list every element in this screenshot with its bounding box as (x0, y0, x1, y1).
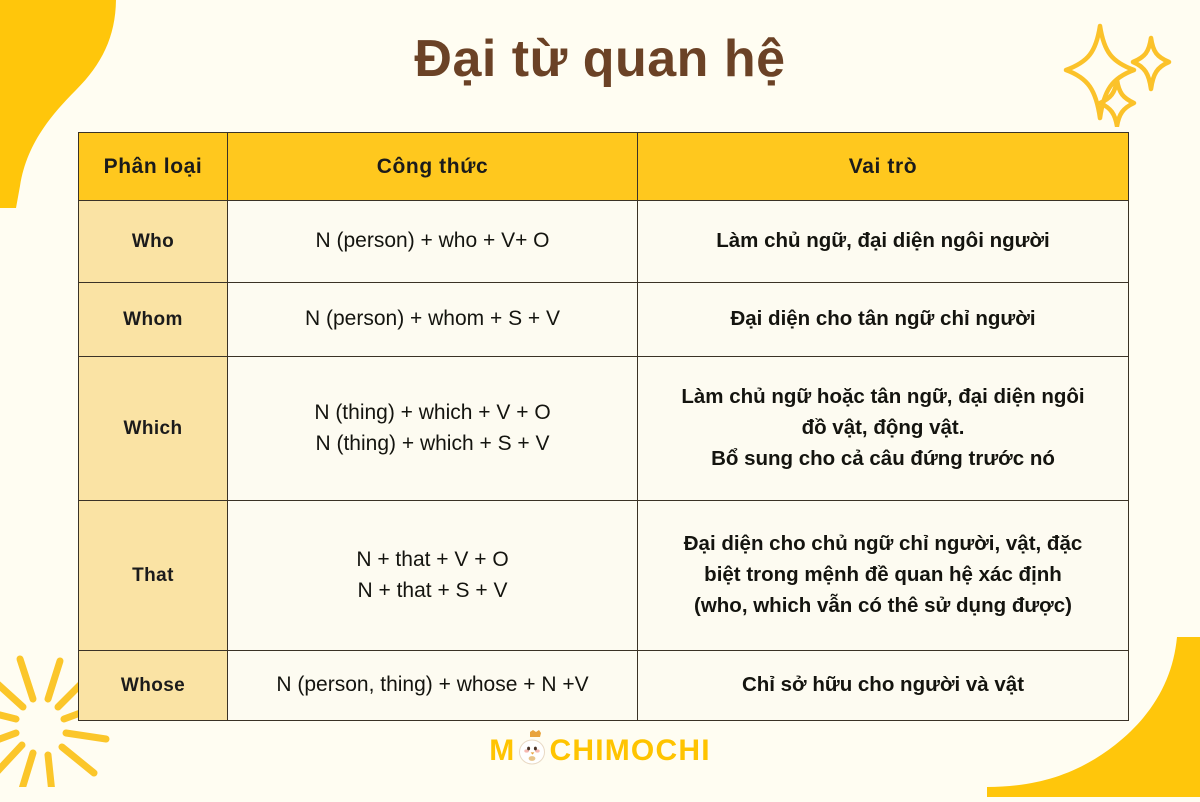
cell-role-which: Làm chủ ngữ hoặc tân ngữ, đại diện ngôi … (638, 357, 1129, 501)
formula-line: N (thing) + which + S + V (228, 429, 637, 459)
brand-logo: M CHIMOCHI (0, 729, 1200, 772)
page-title: Đại từ quan hệ (0, 30, 1200, 90)
role-line: biệt trong mệnh đề quan hệ xác định (652, 560, 1114, 591)
column-header-role: Vai trò (638, 133, 1129, 201)
column-header-formula: Công thức (228, 133, 638, 201)
chick-mascot-icon (513, 729, 551, 772)
table-header-row: Phân loại Công thức Vai trò (79, 133, 1129, 201)
role-line: (who, which vẫn có thê sử dụng được) (652, 591, 1114, 622)
role-line: Chỉ sở hữu cho người và vật (652, 670, 1114, 701)
formula-line: N (person, thing) + whose + N +V (228, 670, 637, 700)
cell-formula-that: N + that + V + O N + that + S + V (228, 501, 638, 651)
table-row: That N + that + V + O N + that + S + V Đ… (79, 501, 1129, 651)
logo-text-left: M (489, 736, 515, 766)
formula-line: N + that + S + V (228, 576, 637, 606)
table-row: Who N (person) + who + V+ O Làm chủ ngữ,… (79, 201, 1129, 283)
cell-role-whom: Đại diện cho tân ngữ chỉ người (638, 283, 1129, 357)
cell-category-which: Which (79, 357, 228, 501)
table-row: Whose N (person, thing) + whose + N +V C… (79, 651, 1129, 721)
role-line: Đại diện cho tân ngữ chỉ người (652, 304, 1114, 335)
cell-category-who: Who (79, 201, 228, 283)
role-line: Đại diện cho chủ ngữ chỉ người, vật, đặc (652, 529, 1114, 560)
formula-line: N (person) + who + V+ O (228, 226, 637, 256)
role-line: Làm chủ ngữ hoặc tân ngữ, đại diện ngôi (652, 382, 1114, 413)
formula-line: N (thing) + which + V + O (228, 398, 637, 428)
role-line: Bổ sung cho cả câu đứng trước nó (652, 444, 1114, 475)
formula-line: N (person) + whom + S + V (228, 304, 637, 334)
column-header-category: Phân loại (79, 133, 228, 201)
logo-text-right: CHIMOCHI (549, 736, 710, 766)
cell-role-that: Đại diện cho chủ ngữ chỉ người, vật, đặc… (638, 501, 1129, 651)
cell-formula-whose: N (person, thing) + whose + N +V (228, 651, 638, 721)
cell-formula-who: N (person) + who + V+ O (228, 201, 638, 283)
relative-pronouns-table: Phân loại Công thức Vai trò Who N (perso… (78, 132, 1128, 720)
cell-category-whose: Whose (79, 651, 228, 721)
role-line: Làm chủ ngữ, đại diện ngôi người (652, 226, 1114, 257)
cell-role-who: Làm chủ ngữ, đại diện ngôi người (638, 201, 1129, 283)
cell-category-that: That (79, 501, 228, 651)
cell-category-whom: Whom (79, 283, 228, 357)
table-row: Which N (thing) + which + V + O N (thing… (79, 357, 1129, 501)
table-row: Whom N (person) + whom + S + V Đại diện … (79, 283, 1129, 357)
cell-formula-whom: N (person) + whom + S + V (228, 283, 638, 357)
role-line: đồ vật, động vật. (652, 413, 1114, 444)
cell-formula-which: N (thing) + which + V + O N (thing) + wh… (228, 357, 638, 501)
cell-role-whose: Chỉ sở hữu cho người và vật (638, 651, 1129, 721)
formula-line: N + that + V + O (228, 545, 637, 575)
